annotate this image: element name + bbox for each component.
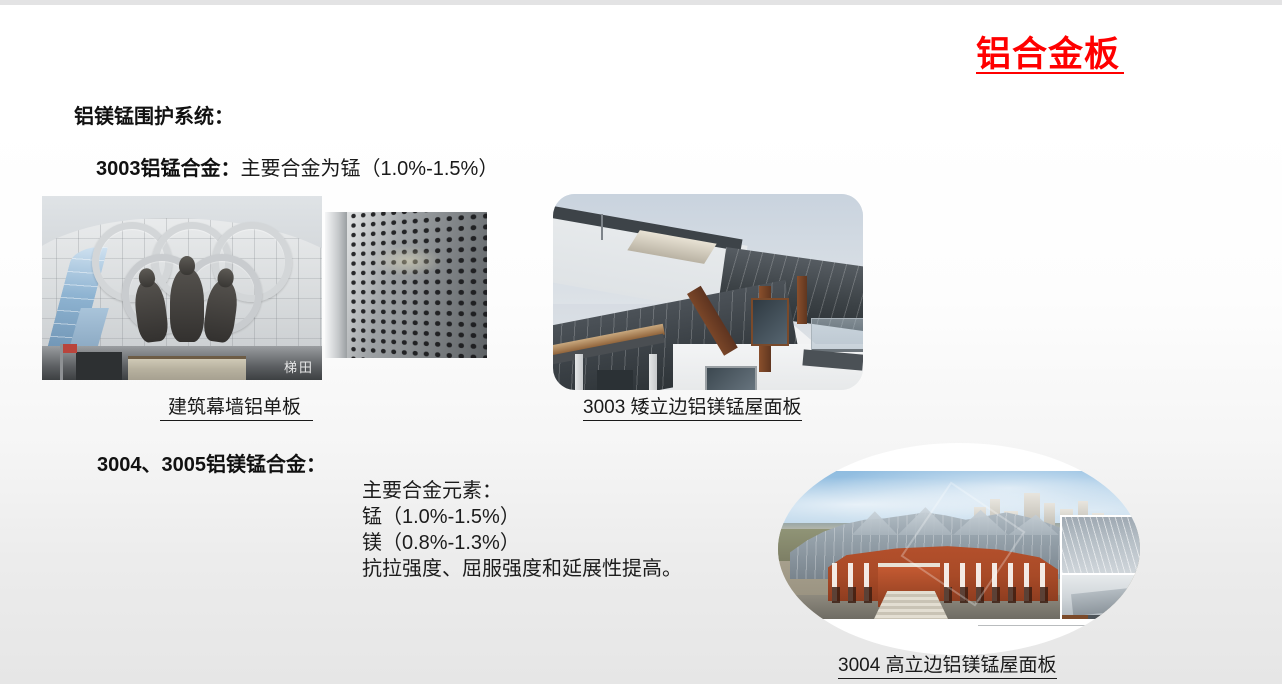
caption-low-seam-roof: 3003 矮立边铝镁锰屋面板 (583, 392, 802, 421)
image-perforated-aluminium-panel (325, 212, 487, 358)
image-watermark: 梯田 (284, 357, 314, 376)
section-heading-3003: 3003铝锰合金：主要合金为锰（1.0%-1.5%） (96, 152, 498, 181)
villa-glass-balcony (811, 318, 863, 352)
runner-head (179, 256, 195, 275)
slide-top-strip (0, 0, 1282, 5)
alloy-description-block: 主要合金元素： 锰（1.0%-1.5%） 镁（0.8%-1.3%） 抗拉强度、屈… (362, 478, 682, 582)
inset-roof-edge (1062, 615, 1140, 619)
stadium-entrance-shadow (76, 352, 122, 380)
slide-canvas: 铝合金板 铝镁锰围护系统： 3003铝锰合金：主要合金为锰（1.0%-1.5%）… (0, 0, 1282, 684)
alloy-3003-label: 3003铝锰合金： (96, 158, 241, 180)
panel-left-edge (325, 212, 347, 358)
inset-divider-line (978, 625, 1128, 626)
section-heading-3004-3005: 3004、3005铝镁锰合金： (97, 448, 326, 477)
cultural-center-photo-inner (778, 471, 1140, 619)
runner-head (216, 267, 234, 288)
page-title: 铝合金板 (976, 26, 1120, 77)
page-title-underline (976, 72, 1124, 74)
flag (63, 344, 77, 353)
villa-column-1 (575, 354, 583, 390)
alloy-3003-description: 主要合金为锰（1.0%-1.5%） (241, 158, 499, 180)
runner-head (138, 267, 156, 288)
villa-window-1 (705, 366, 757, 390)
image-villa-standing-seam-roof (553, 194, 863, 390)
villa-gable-window (751, 298, 789, 346)
panel-light-reflection (373, 246, 443, 276)
runner-statue-right (202, 278, 240, 344)
villa-vent-pipe (601, 214, 603, 240)
runner-statue-left (132, 278, 169, 343)
facade-arch-openings (832, 587, 1054, 603)
caption-high-seam-roof: 3004 高立边铝镁锰屋面板 (838, 650, 1057, 679)
villa-timber-beam-3 (797, 276, 807, 324)
inset-roof-panel (1071, 588, 1133, 616)
alloy-desc-line-3: 镁（0.8%-1.3%） (362, 530, 682, 556)
inset-photo-roof-closeup (1060, 515, 1140, 573)
villa-column-2 (649, 354, 657, 390)
runner-statue-middle (170, 268, 204, 342)
section-heading-system: 铝镁锰围护系统： (74, 100, 234, 129)
alloy-desc-line-2: 锰（1.0%-1.5%） (362, 504, 682, 530)
perforation-hole-grid (325, 212, 487, 358)
villa-window-2 (597, 370, 633, 390)
alloy-desc-line-1: 主要合金元素： (362, 478, 682, 504)
image-curtain-wall-stadium: 梯田 (42, 196, 322, 380)
inset-photo-roof-aerial (1060, 573, 1140, 619)
alloy-desc-line-4: 抗拉强度、屈服强度和延展性提高。 (362, 556, 682, 582)
caption-curtain-wall-panel: 建筑幕墙铝单板 (160, 392, 313, 421)
statue-pedestal (128, 356, 246, 380)
image-cultural-center-high-seam-roof (778, 443, 1140, 655)
